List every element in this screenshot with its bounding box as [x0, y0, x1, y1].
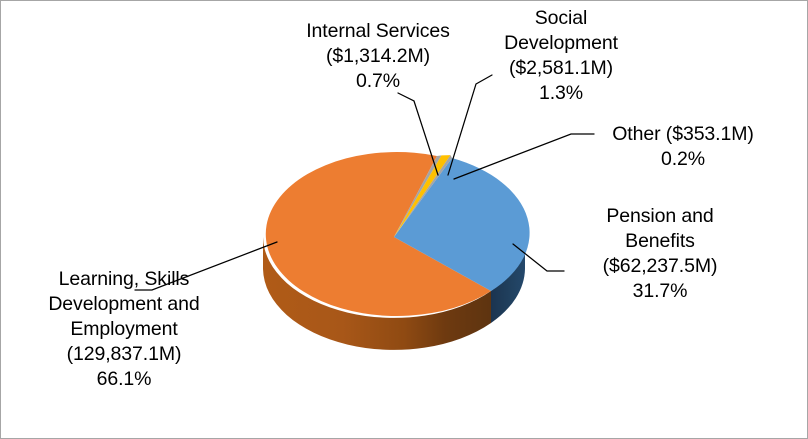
data-label-other: Other ($353.1M) 0.2%: [573, 122, 793, 172]
data-label-learning-skills: Learning, Skills Development and Employm…: [11, 267, 237, 392]
data-label-social-development: Social Development ($2,581.1M) 1.3%: [481, 6, 641, 106]
pie-chart-container: Internal Services ($1,314.2M) 0.7% Socia…: [0, 0, 808, 439]
data-label-pension-benefits: Pension and Benefits ($62,237.5M) 31.7%: [553, 204, 767, 304]
pie-top-face: [266, 152, 530, 316]
data-label-internal-services: Internal Services ($1,314.2M) 0.7%: [289, 19, 467, 94]
